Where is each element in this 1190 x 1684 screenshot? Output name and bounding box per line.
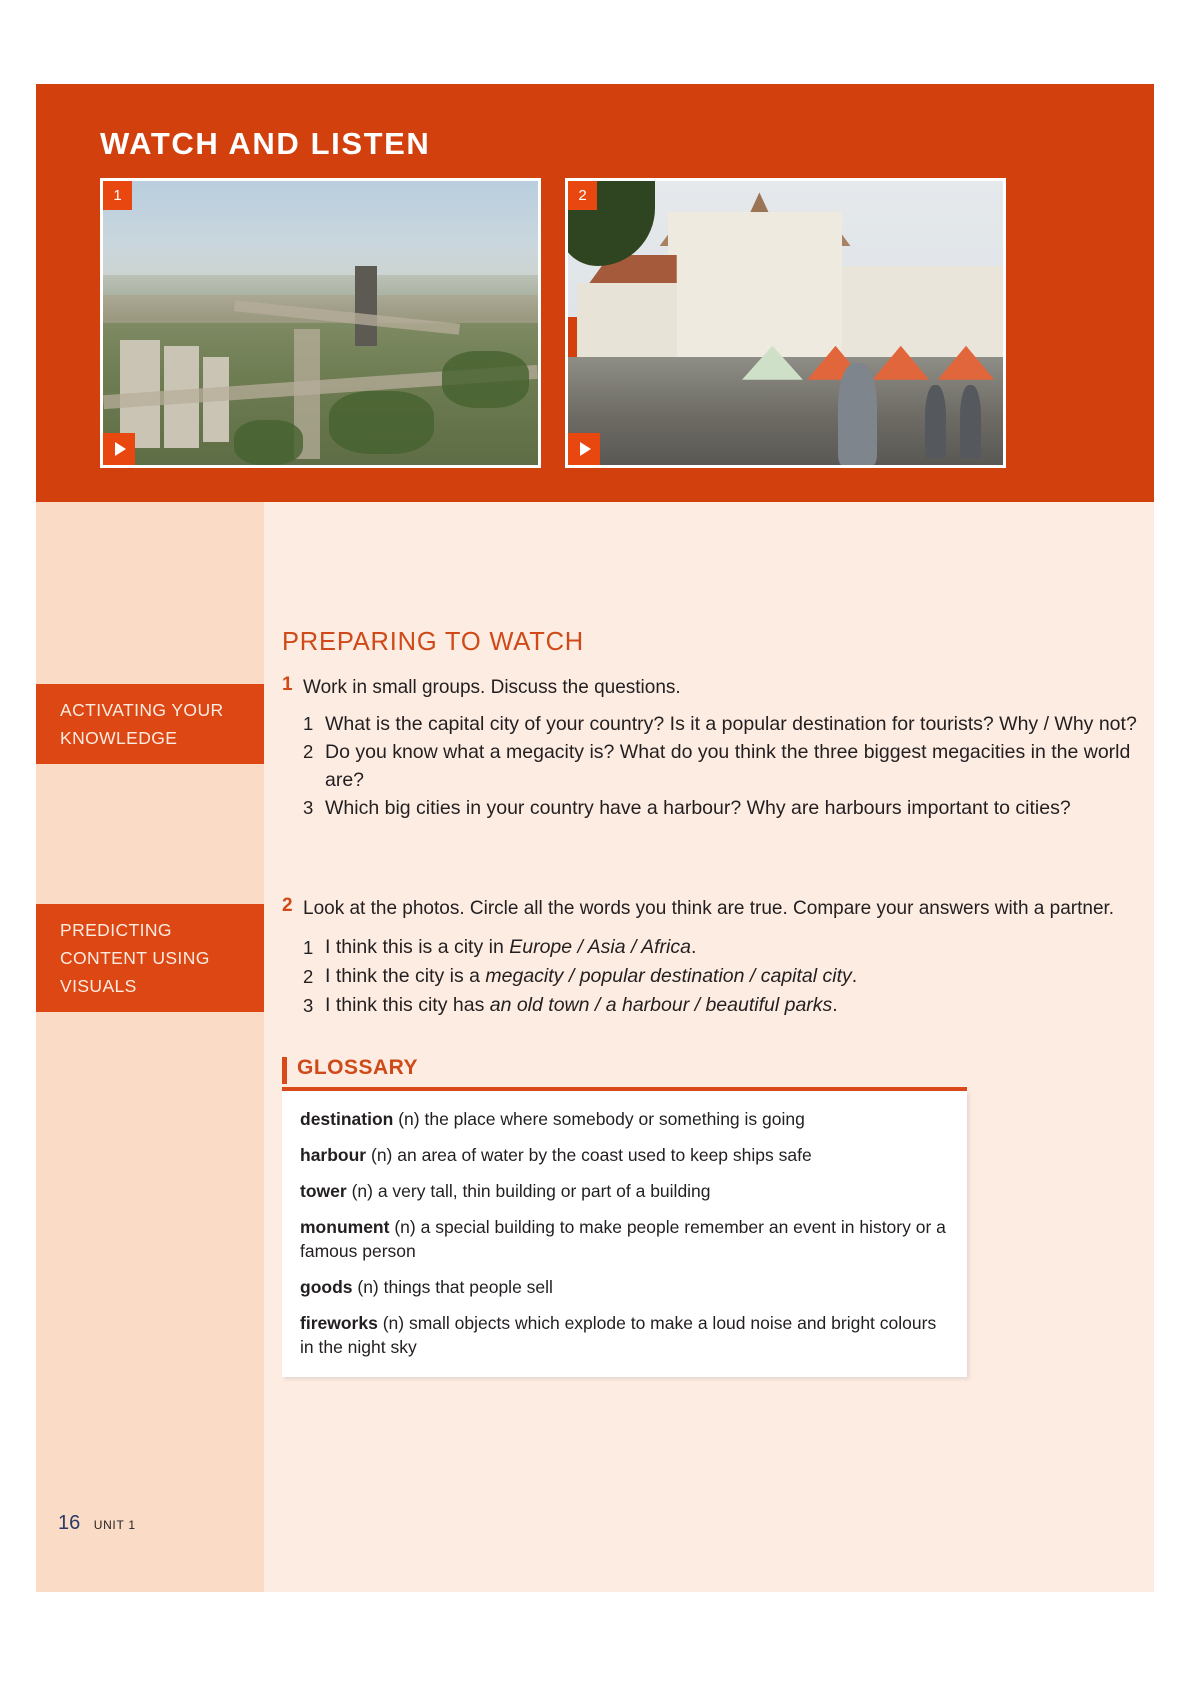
question-item: 2 Do you know what a megacity is? What d… — [303, 738, 1142, 794]
glossary-accent-bar — [282, 1057, 287, 1084]
photo2-right-building — [842, 266, 1003, 363]
question-text: Do you know what a megacity is? What do … — [325, 738, 1142, 794]
page-number: 16 — [58, 1512, 80, 1535]
glossary-pos: (n) — [383, 1313, 404, 1333]
statement-lead: I think the city is a — [325, 965, 485, 987]
video-thumbnail-1[interactable]: 1 — [100, 178, 541, 468]
glossary: GLOSSARY destination (n) the place where… — [282, 1057, 967, 1377]
question-item: 1 What is the capital city of your count… — [303, 710, 1142, 738]
glossary-definition: a very tall, thin building or part of a … — [378, 1181, 711, 1201]
question-item: 3 Which big cities in your country have … — [303, 794, 1142, 822]
statement-item: 2 I think the city is a megacity / popul… — [303, 962, 1142, 991]
glossary-definition: things that people sell — [384, 1277, 553, 1297]
statement-options[interactable]: an old town / a harbour / beautiful park… — [490, 994, 833, 1016]
play-button-1[interactable] — [103, 433, 135, 465]
glossary-term: fireworks — [300, 1313, 378, 1333]
glossary-entry: goods (n) things that people sell — [300, 1275, 949, 1299]
question-text: What is the capital city of your country… — [325, 710, 1142, 738]
glossary-pos: (n) — [357, 1277, 378, 1297]
exercise-1-number: 1 — [282, 674, 293, 696]
photo-badge-2: 2 — [568, 181, 597, 210]
glossary-header: GLOSSARY — [282, 1057, 967, 1087]
statement-text: I think this is a city in Europe / Asia … — [325, 933, 1142, 962]
glossary-term: harbour — [300, 1145, 366, 1165]
sidebar-label-activating-your-knowledge: ACTIVATING YOUR KNOWLEDGE — [36, 684, 264, 764]
statement-number: 3 — [303, 991, 313, 1020]
glossary-term: goods — [300, 1277, 353, 1297]
glossary-entry: harbour (n) an area of water by the coas… — [300, 1143, 949, 1167]
glossary-term: destination — [300, 1109, 393, 1129]
exercise-2-instruction: Look at the photos. Circle all the words… — [303, 895, 1142, 922]
statement-lead: I think this city has — [325, 994, 490, 1016]
statement-number: 2 — [303, 962, 313, 991]
statement-tail: . — [832, 994, 837, 1016]
glossary-pos: (n) — [394, 1217, 415, 1237]
statement-number: 1 — [303, 933, 313, 962]
exercise-1-instruction: Work in small groups. Discuss the questi… — [303, 674, 1142, 701]
statement-lead: I think this is a city in — [325, 936, 509, 958]
glossary-term: tower — [300, 1181, 347, 1201]
watch-and-listen-banner: WATCH AND LISTEN 1 — [36, 84, 1154, 502]
statement-options[interactable]: megacity / popular destination / capital… — [485, 965, 851, 987]
glossary-definition: the place where somebody or something is… — [424, 1109, 804, 1129]
statement-item: 3 I think this city has an old town / a … — [303, 991, 1142, 1020]
glossary-box: destination (n) the place where somebody… — [282, 1091, 967, 1377]
statement-text: I think this city has an old town / a ha… — [325, 991, 1142, 1020]
main-content: PREPARING TO WATCH 1 Work in small group… — [264, 502, 1154, 1592]
glossary-entry: fireworks (n) small objects which explod… — [300, 1311, 949, 1359]
page-footer: 16 UNIT 1 — [58, 1512, 136, 1535]
glossary-pos: (n) — [371, 1145, 392, 1165]
video-thumbnail-2[interactable]: 2 — [565, 178, 1006, 468]
glossary-entry: monument (n) a special building to make … — [300, 1215, 949, 1263]
question-number: 1 — [303, 710, 313, 738]
question-text: Which big cities in your country have a … — [325, 794, 1142, 822]
glossary-entry: tower (n) a very tall, thin building or … — [300, 1179, 949, 1203]
page-title: WATCH AND LISTEN — [100, 126, 430, 162]
exercise-1: 1 Work in small groups. Discuss the ques… — [282, 674, 1142, 822]
photo-badge-1: 1 — [103, 181, 132, 210]
glossary-pos: (n) — [398, 1109, 419, 1129]
exercise-2: 2 Look at the photos. Circle all the wor… — [282, 895, 1142, 1020]
statement-tail: . — [852, 965, 857, 987]
play-button-2[interactable] — [568, 433, 600, 465]
glossary-term: monument — [300, 1217, 389, 1237]
textbook-page: WATCH AND LISTEN 1 — [36, 84, 1154, 1592]
exercise-2-number: 2 — [282, 895, 293, 917]
unit-label: UNIT 1 — [94, 1518, 136, 1532]
photo2-left-building — [577, 283, 677, 363]
question-number: 2 — [303, 738, 313, 766]
play-icon — [115, 442, 126, 456]
glossary-pos: (n) — [352, 1181, 373, 1201]
glossary-definition: an area of water by the coast used to ke… — [397, 1145, 811, 1165]
statement-item: 1 I think this is a city in Europe / Asi… — [303, 933, 1142, 962]
question-number: 3 — [303, 794, 313, 822]
statement-options[interactable]: Europe / Asia / Africa — [509, 936, 691, 958]
section-heading-preparing-to-watch: PREPARING TO WATCH — [282, 628, 584, 657]
glossary-title: GLOSSARY — [297, 1056, 418, 1080]
sidebar: ACTIVATING YOUR KNOWLEDGE PREDICTING CON… — [36, 502, 264, 1592]
glossary-entry: destination (n) the place where somebody… — [300, 1107, 949, 1131]
sidebar-label-predicting-content-using-visuals: PREDICTING CONTENT USING VISUALS — [36, 904, 264, 1012]
statement-text: I think the city is a megacity / popular… — [325, 962, 1142, 991]
photo2-main-building — [668, 212, 842, 360]
exercise-2-statements: 1 I think this is a city in Europe / Asi… — [303, 933, 1142, 1020]
play-icon — [580, 442, 591, 456]
statement-tail: . — [691, 936, 696, 958]
exercise-1-questions: 1 What is the capital city of your count… — [303, 710, 1142, 822]
